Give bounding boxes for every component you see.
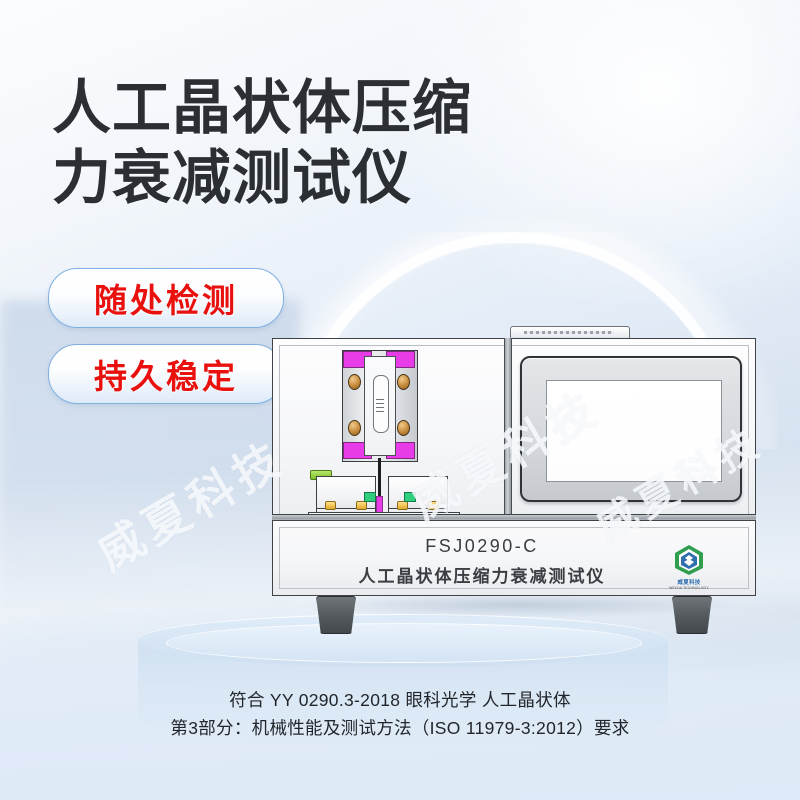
stage-connector-left: [364, 492, 376, 502]
clamp-fastener-knob: [397, 374, 410, 390]
feature-badge-durable-stable[interactable]: 持久稳定: [48, 344, 284, 404]
stage-adjust-knob: [397, 501, 408, 510]
page-title: 人工晶状体压缩 力衰减测试仪: [52, 74, 572, 213]
product-poster: 人工晶状体压缩 力衰减测试仪 随处检测 持久稳定: [0, 0, 800, 800]
clamp-fastener-knob: [348, 420, 361, 436]
page-title-line-2: 力衰减测试仪: [52, 144, 572, 214]
page-title-line-1: 人工晶状体压缩: [52, 75, 472, 141]
touchscreen-bezel: [520, 356, 742, 502]
machine-foot-left: [316, 596, 356, 634]
stage-connector-right: [404, 492, 416, 502]
stage-adjust-knob: [325, 501, 336, 510]
compliance-caption-line-2: 第3部分：机械性能及测试方法（ISO 11979-3:2012）要求: [0, 714, 800, 742]
brand-logo-subtext: WEIXIA TECHNOLOGY: [666, 586, 712, 590]
compression-clamp-assembly: [342, 350, 416, 460]
clamp-fastener-knob: [397, 420, 410, 436]
stage-adjust-knob: [356, 501, 367, 510]
podium-top-highlight: [166, 623, 642, 663]
clamp-scale-ticks: [376, 399, 384, 415]
machine-foot-right: [672, 596, 712, 634]
test-chamber: [282, 346, 498, 516]
compliance-caption-line-1: 符合 YY 0290.3-2018 眼科光学 人工晶状体: [0, 686, 800, 714]
touchscreen-display[interactable]: [546, 380, 722, 482]
machine-product-name: 人工晶状体压缩力衰减测试仪: [272, 562, 692, 587]
clamp-center-slider: [364, 356, 396, 456]
compliance-caption: 符合 YY 0290.3-2018 眼科光学 人工晶状体 第3部分：机械性能及测…: [0, 686, 800, 743]
feature-badge-anywhere-detection[interactable]: 随处检测: [48, 268, 284, 328]
machine-panel-divider: [504, 338, 512, 520]
hexagon-logo-icon: [672, 544, 706, 576]
clamp-fastener-knob: [348, 374, 361, 390]
product-image-testing-instrument: FSJ0290-C 人工晶状体压缩力衰减测试仪 威夏科技 WEIXIA TECH…: [272, 334, 756, 624]
machine-model-number: FSJ0290-C: [272, 536, 692, 557]
feature-badge-label: 随处检测: [94, 274, 238, 322]
machine-nameplate: FSJ0290-C 人工晶状体压缩力衰减测试仪: [272, 536, 692, 587]
feature-badge-label: 持久稳定: [94, 350, 238, 398]
stage-adjust-knob: [428, 501, 439, 510]
brand-logo: 威夏科技 WEIXIA TECHNOLOGY: [666, 544, 712, 590]
machine-lid-vent: [524, 331, 614, 334]
brand-logo-name: 威夏科技: [666, 578, 712, 586]
feature-badge-list: 随处检测 持久稳定: [48, 268, 284, 420]
specimen-stage-right: [388, 476, 448, 512]
